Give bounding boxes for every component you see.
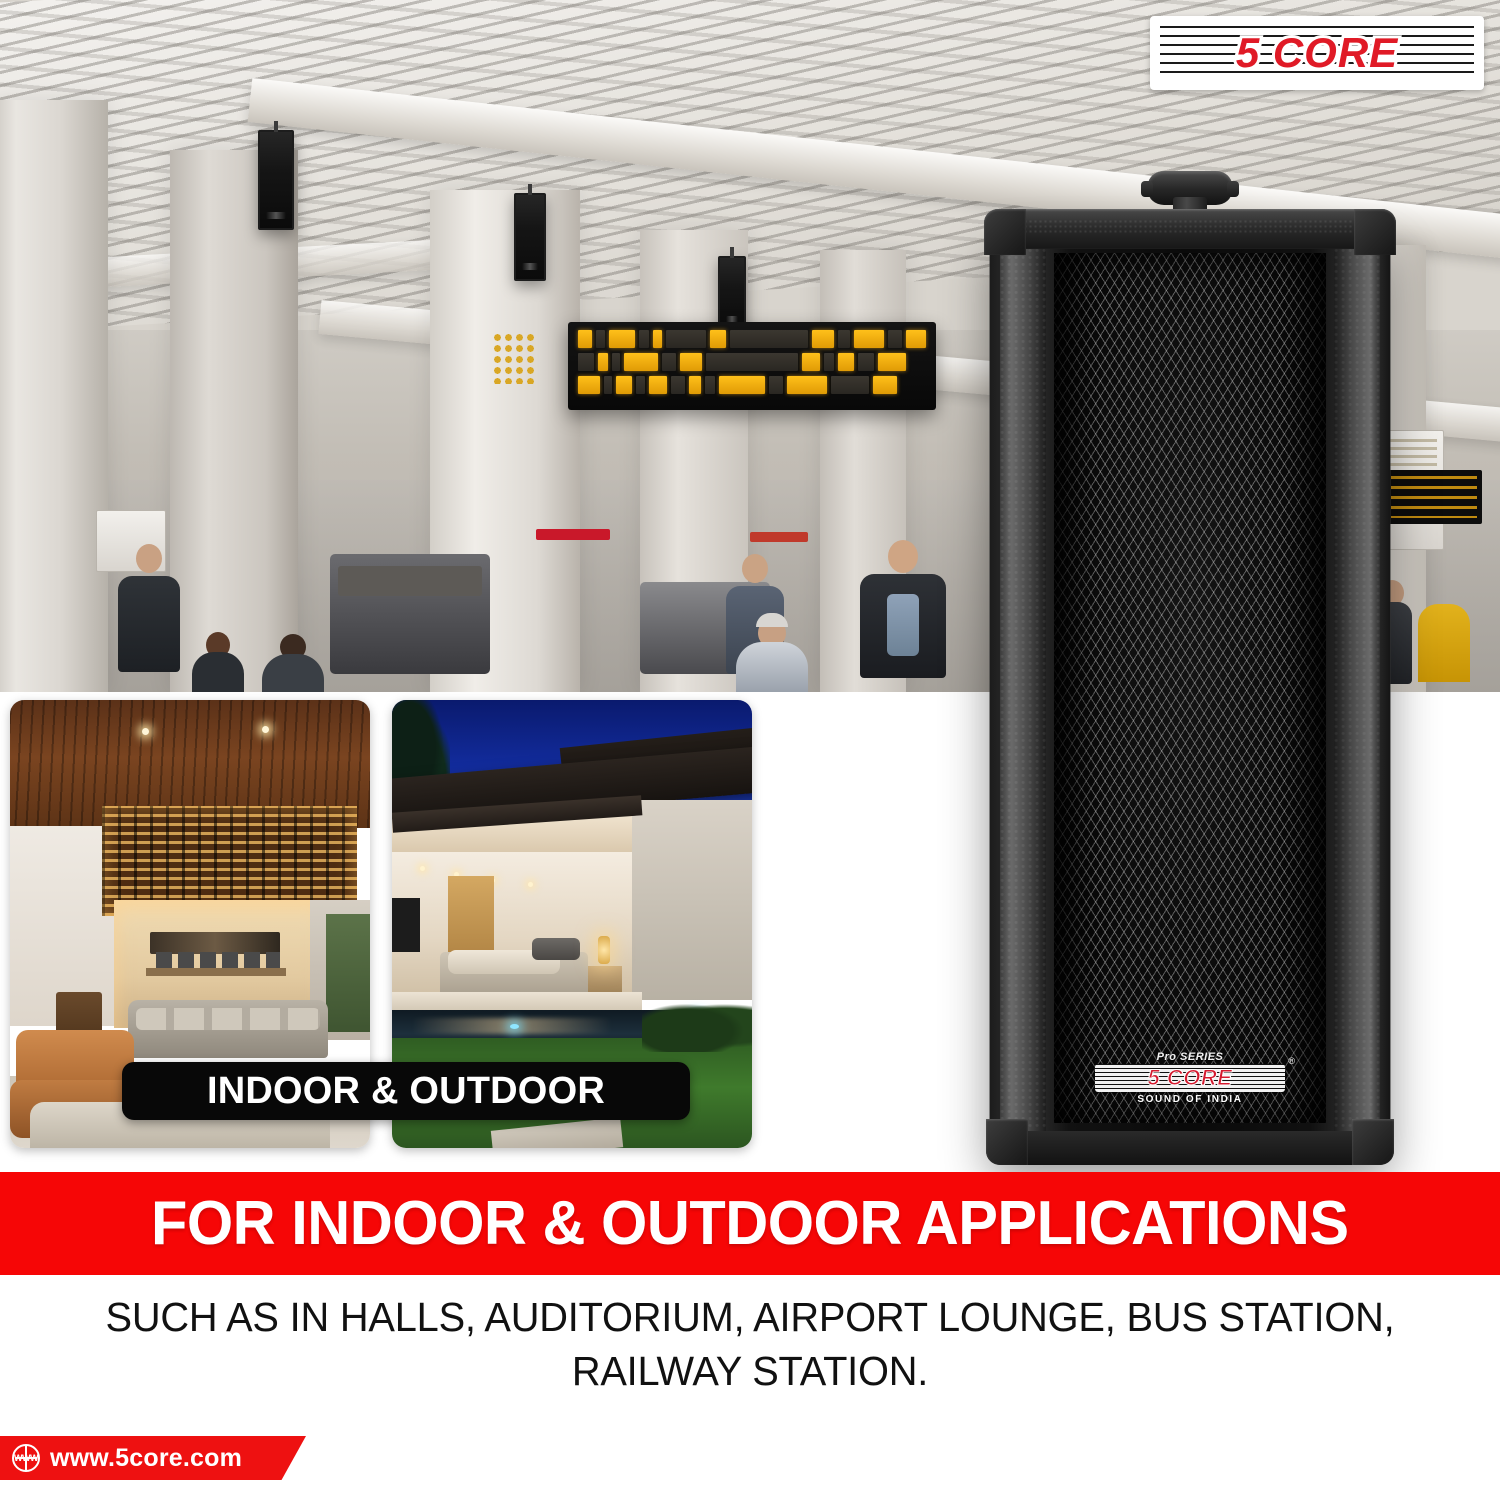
cabinet-side-left [1000,249,1046,1131]
sectional-sofa [128,1000,328,1058]
badge-tagline: SOUND OF INDIA [1095,1094,1285,1105]
mesh-grille [1054,253,1326,1123]
person-figure [736,618,808,692]
red-accent-stripe [750,532,808,542]
indoor-outdoor-badge: INDOOR & OUTDOOR [122,1062,690,1120]
led-departure-board [568,322,936,410]
amber-led-sign [1386,470,1482,524]
corner-protector [1352,1119,1394,1165]
background-vehicle [330,554,490,674]
person-figure [192,632,244,692]
mounted-column-speaker [514,193,546,281]
wall-art [150,932,280,954]
headline-text: FOR INDOOR & OUTDOOR APPLICATIONS [151,1188,1349,1259]
pro-text: Pro [1157,1051,1177,1063]
pillows [532,938,580,960]
terminal-column [170,150,298,692]
cabinet-top-cap [984,209,1396,249]
board-row [578,353,926,371]
table-lamp [598,936,610,964]
mounted-column-speaker [258,130,294,230]
console-table [146,968,286,976]
badge-brand-text: 5 CORE [1103,1067,1277,1089]
logo-text: 5 CORE [1236,29,1398,77]
product-marketing-image: INDOOR & OUTDOOR Pro SERIES [0,0,1500,1500]
globe-www-icon: WWW [12,1444,40,1472]
cabinet-bottom-cap [986,1131,1394,1165]
registered-mark: ® [1288,1056,1295,1066]
series-text: SERIES [1180,1051,1223,1063]
indoor-outdoor-label: INDOOR & OUTDOOR [207,1070,605,1113]
person-figure [118,544,180,672]
website-tag[interactable]: WWW www.5core.com [0,1436,306,1480]
corner-protector [1354,209,1396,255]
terminal-column [0,100,108,692]
website-url: www.5core.com [50,1444,242,1473]
corner-protector [986,1119,1028,1165]
globe-www-text: WWW [14,1453,38,1463]
exterior-wall [628,800,752,1000]
person-figure [860,540,946,678]
person-figure [262,634,324,692]
headline-banner: FOR INDOOR & OUTDOOR APPLICATIONS [0,1172,1500,1275]
corner-protector [984,209,1026,255]
glass-door-to-garden [326,914,370,1032]
person-figure [1418,586,1470,682]
pro-series-label: Pro SERIES [1095,1051,1285,1063]
cabinet-side-right [1334,249,1380,1131]
badge-logo-bar: 5 CORE ® [1095,1064,1285,1092]
five-core-logo: 5 CORE 5 CORE [1150,16,1484,90]
shrubs [642,1000,752,1052]
board-row [578,330,926,348]
product-brand-badge: Pro SERIES 5 CORE ® SOUND OF INDIA [1095,1051,1285,1105]
amber-dot-sign [492,332,538,384]
grille-shading [1054,253,1326,1123]
speaker-cabinet: Pro SERIES 5 CORE ® SOUND OF INDIA [990,223,1390,1153]
subtitle-text: SUCH AS IN HALLS, AUDITORIUM, AIRPORT LO… [105,1290,1395,1398]
board-row [578,376,926,394]
subtitle-block: SUCH AS IN HALLS, AUDITORIUM, AIRPORT LO… [0,1290,1500,1420]
red-accent-stripe [536,529,610,540]
wall-tv [392,898,420,952]
product-speaker: Pro SERIES 5 CORE ® SOUND OF INDIA [990,155,1390,1160]
